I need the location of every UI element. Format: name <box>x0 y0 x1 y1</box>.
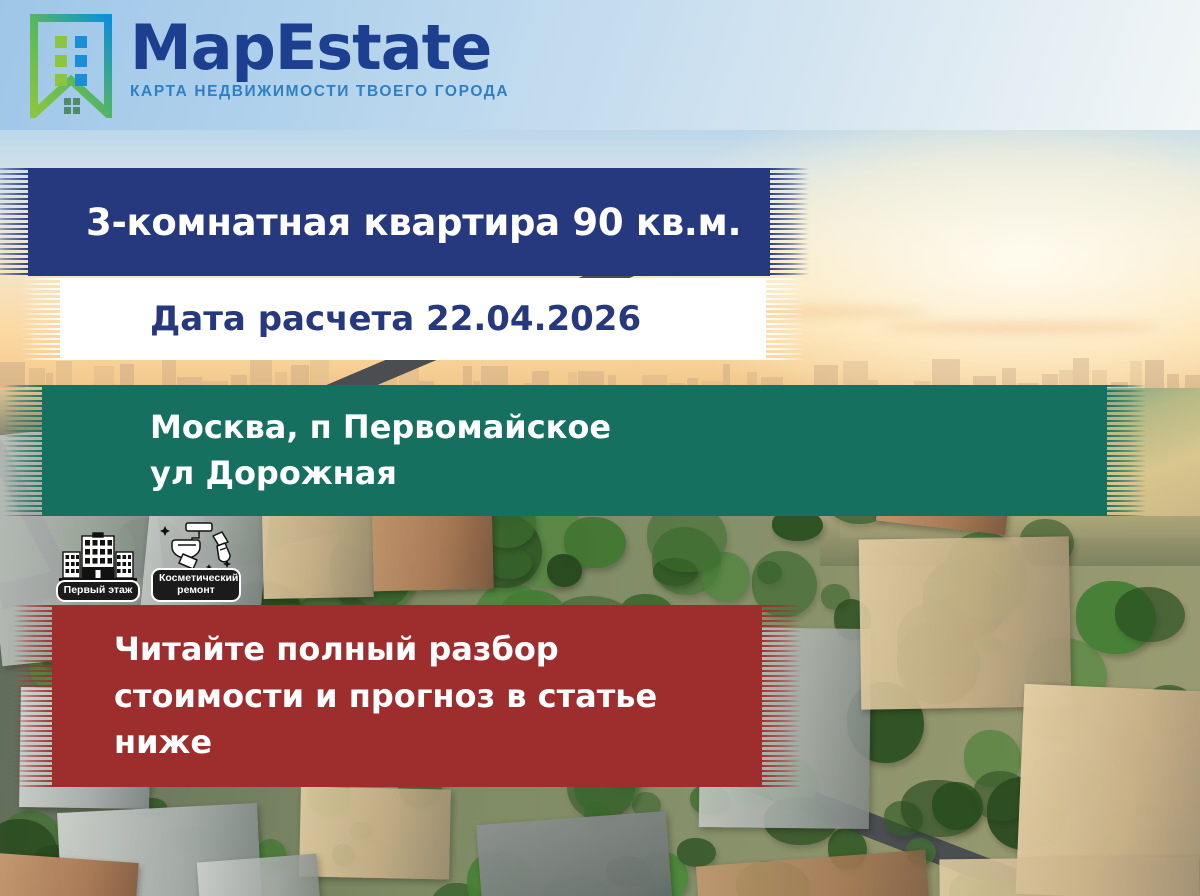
real-estate-promo-poster: MapEstate КАРТА НЕДВИЖИМОСТИ ТВОЕГО ГОРО… <box>0 0 1200 896</box>
address-block: Москва, п Первомайское ул Дорожная <box>42 405 1107 496</box>
cta-text: Читайте полный разбор стоимости и прогно… <box>52 626 762 766</box>
property-title-banner: 3-комнатная квартира 90 кв.м. <box>28 168 770 276</box>
badge-label: Косметический ремонт <box>151 568 241 602</box>
feature-badges: Первый этаж <box>52 520 242 602</box>
tree-canopy <box>677 838 716 867</box>
building <box>476 811 674 896</box>
logo[interactable]: MapEstate КАРТА НЕДВИЖИМОСТИ ТВОЕГО ГОРО… <box>28 14 509 118</box>
cloud <box>880 322 1160 333</box>
cta-line-1: Читайте полный разбор <box>114 626 752 673</box>
logo-text: MapEstate КАРТА НЕДВИЖИМОСТИ ТВОЕГО ГОРО… <box>130 14 509 101</box>
building <box>939 857 1200 896</box>
address-line-2: ул Дорожная <box>150 451 1107 496</box>
calculation-date: Дата расчета 22.04.2026 <box>60 299 766 339</box>
tree-canopy <box>487 547 532 579</box>
building <box>696 850 934 896</box>
badge-first-floor: Первый этаж <box>52 532 144 602</box>
brand-tagline: КАРТА НЕДВИЖИМОСТИ ТВОЕГО ГОРОДА <box>130 83 509 101</box>
header-bar: MapEstate КАРТА НЕДВИЖИМОСТИ ТВОЕГО ГОРО… <box>0 0 1200 130</box>
bookmark-building-icon <box>28 14 114 118</box>
address-banner: Москва, п Первомайское ул Дорожная <box>42 385 1107 516</box>
badge-label-line-1: Косметический <box>159 572 238 584</box>
badge-cosmetic-repair: Косметический ремонт <box>150 520 242 602</box>
tree-canopy <box>1115 587 1186 642</box>
brand-name: MapEstate <box>130 18 509 79</box>
calculation-date-banner: Дата расчета 22.04.2026 <box>60 278 766 360</box>
cta-line-3: ниже <box>114 719 752 766</box>
badge-label: Первый этаж <box>56 580 141 602</box>
address-line-1: Москва, п Первомайское <box>150 405 1107 450</box>
cta-line-2: стоимости и прогноз в статье <box>114 673 752 720</box>
building <box>299 786 451 879</box>
property-title: 3-комнатная квартира 90 кв.м. <box>28 201 770 244</box>
tree-canopy <box>901 780 980 837</box>
cta-banner[interactable]: Читайте полный разбор стоимости и прогно… <box>52 605 762 787</box>
apartment-building-icon <box>59 532 137 584</box>
badge-label-line-2: ремонт <box>177 584 215 596</box>
paint-roller-brush-icon <box>157 520 235 572</box>
tree-canopy <box>547 554 582 587</box>
